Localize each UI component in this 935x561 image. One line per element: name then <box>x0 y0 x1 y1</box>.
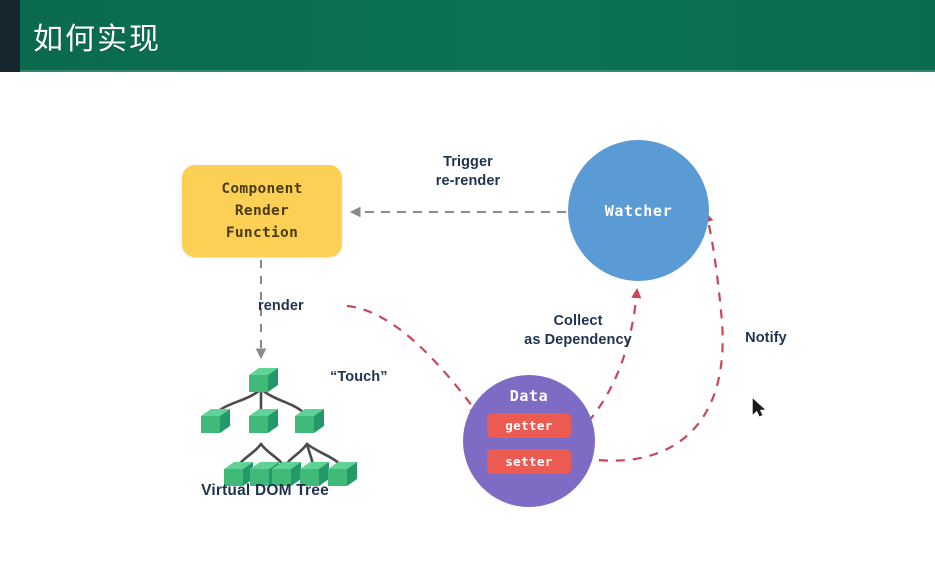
component-render-line-2: Render <box>235 200 289 222</box>
getter-chip[interactable]: getter <box>487 413 571 438</box>
edge-label-touch: “Touch” <box>330 368 426 387</box>
edge-label-collect-as-dependency: Collect as Dependency <box>505 312 651 350</box>
virtual-dom-tree-links <box>213 389 344 469</box>
edge-label-trigger-re-render: Trigger re-render <box>396 153 540 191</box>
setter-chip[interactable]: setter <box>487 449 571 474</box>
watcher-node[interactable]: Watcher <box>568 140 709 281</box>
component-render-line-1: Component <box>221 178 302 200</box>
edge-label-notify: Notify <box>720 329 812 348</box>
watcher-label: Watcher <box>605 202 672 220</box>
edge-touch <box>347 306 478 414</box>
data-node[interactable]: Data getter setter <box>463 375 595 507</box>
diagram-canvas: Component Render Function Watcher Data g… <box>0 72 935 561</box>
mouse-pointer-icon <box>752 398 766 418</box>
slide-header: 如何实现 <box>0 0 935 72</box>
component-render-function-node[interactable]: Component Render Function <box>182 165 342 257</box>
component-render-line-3: Function <box>226 222 298 244</box>
header-banner: 如何实现 <box>20 0 935 72</box>
edge-label-render: render <box>258 297 354 316</box>
data-label: Data <box>463 387 595 405</box>
diagram-connectors <box>0 72 935 561</box>
virtual-dom-tree-label: Virtual DOM Tree <box>160 482 370 500</box>
page-title: 如何实现 <box>33 14 161 58</box>
edge-collect-as-dependency <box>588 290 637 422</box>
header-left-strip <box>0 0 20 72</box>
